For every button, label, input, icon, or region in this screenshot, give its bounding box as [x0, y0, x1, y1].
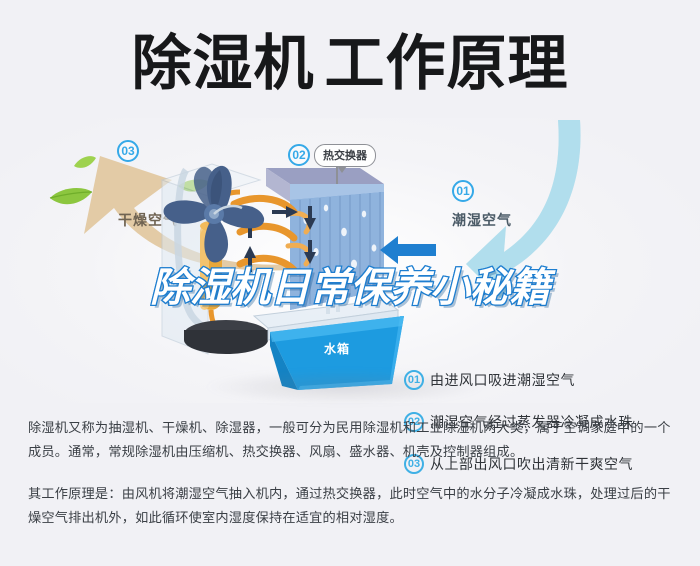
- humid-air-badge: 01: [452, 180, 474, 202]
- page-title: 除湿机工作原理: [0, 28, 700, 100]
- legend-text-01: 由进风口吸进潮湿空气: [430, 370, 575, 390]
- humid-air-label: 潮湿空气: [452, 210, 512, 230]
- water-tank-label: 水箱: [324, 340, 350, 357]
- heat-exchanger-badge: 02: [288, 144, 310, 166]
- watermark-overlay-text: 除湿机日常保养小秘籍: [0, 266, 700, 310]
- dry-air-badge: 03: [117, 140, 139, 162]
- article-paragraph-2: 其工作原理是：由风机将潮湿空气抽入机内，通过热交换器，此时空气中的水分子冷凝成水…: [28, 482, 676, 530]
- legend-item-01: 01 由进风口吸进潮湿空气: [404, 370, 694, 390]
- legend-badge-01: 01: [404, 370, 424, 390]
- infographic-page: 除湿机工作原理 干燥空气 03 潮湿空气 01: [0, 0, 700, 566]
- air-inlet-arrow-icon: [380, 236, 436, 264]
- callout-stem: [336, 166, 338, 184]
- heat-exchanger-callout: 热交换器: [314, 144, 376, 167]
- article-body: 除湿机又称为抽湿机、干燥机、除湿器，一般可分为民用除湿机和工业除湿机两大类，属于…: [28, 416, 676, 530]
- fan-icon: [150, 156, 280, 276]
- machine-base: [184, 320, 268, 354]
- dehumidifier-diagram: 干燥空气 03 潮湿空气 01: [0, 118, 700, 403]
- article-paragraph-1: 除湿机又称为抽湿机、干燥机、除湿器，一般可分为民用除湿机和工业除湿机两大类，属于…: [28, 416, 676, 464]
- title-part1: 除湿机: [132, 30, 315, 97]
- title-part2: 工作原理: [325, 30, 569, 97]
